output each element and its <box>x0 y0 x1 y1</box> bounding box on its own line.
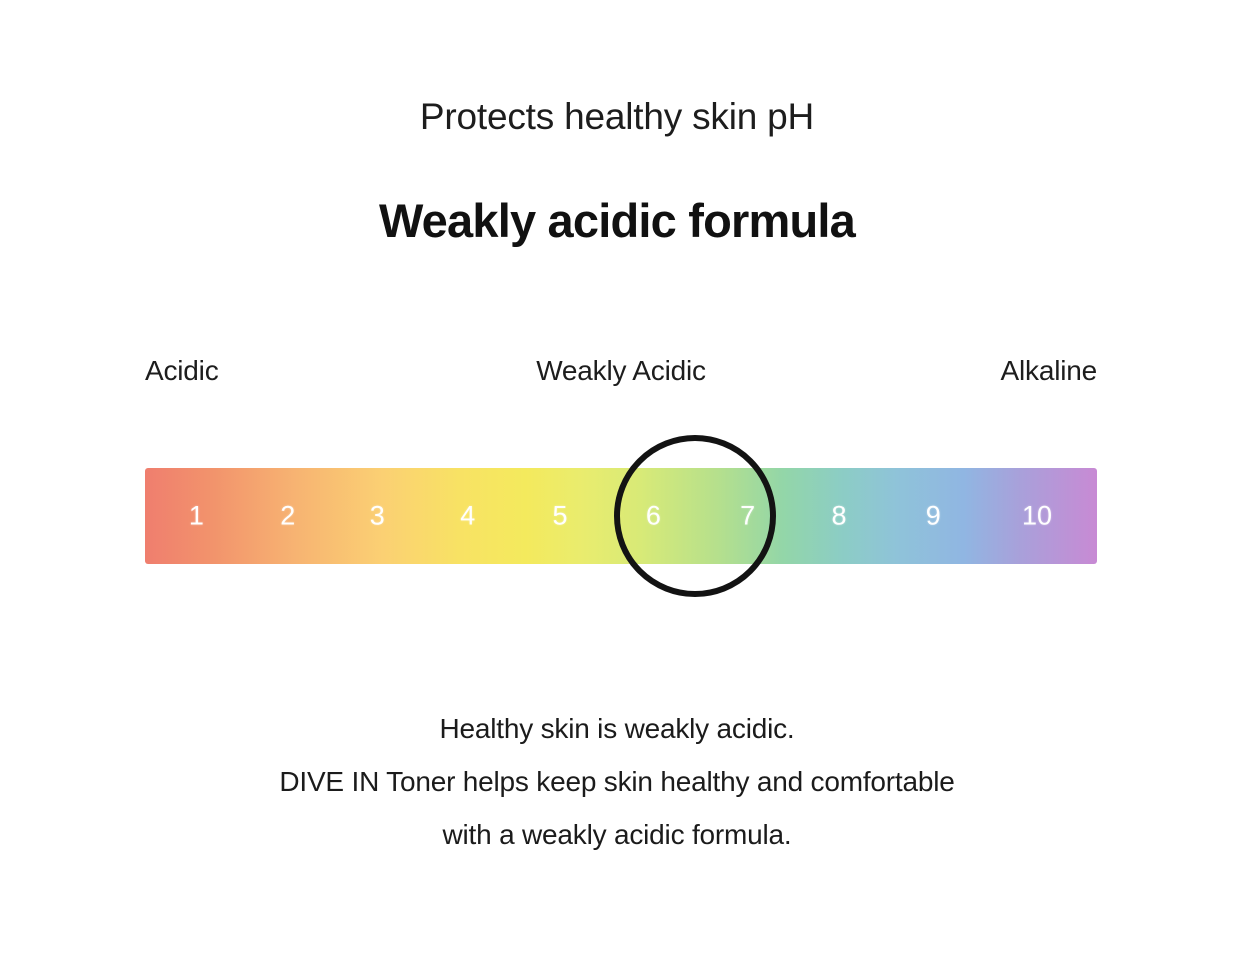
ph-tick-7: 7 <box>740 501 755 532</box>
ph-tick-numbers: 1 2 3 4 5 6 7 8 9 10 <box>145 468 1097 564</box>
body-line-2: DIVE IN Toner helps keep skin healthy an… <box>0 755 1234 808</box>
scale-label-acidic: Acidic <box>145 355 219 387</box>
ph-bar-area: 1 2 3 4 5 6 7 8 9 10 <box>145 468 1097 564</box>
scale-label-weakly-acidic: Weakly Acidic <box>536 355 706 387</box>
ph-scale: Acidic Weakly Acidic Alkaline 1 2 3 4 5 … <box>145 355 1097 564</box>
heading-block: Protects healthy skin pH Weakly acidic f… <box>0 98 1234 244</box>
ph-tick-1: 1 <box>189 501 204 532</box>
ph-tick-9: 9 <box>926 501 941 532</box>
ph-tick-2: 2 <box>280 501 295 532</box>
headline-text: Weakly acidic formula <box>0 135 1234 244</box>
body-line-1: Healthy skin is weakly acidic. <box>0 702 1234 755</box>
scale-label-alkaline: Alkaline <box>1001 355 1097 387</box>
ph-scale-infographic: Protects healthy skin pH Weakly acidic f… <box>0 0 1234 976</box>
ph-scale-labels: Acidic Weakly Acidic Alkaline <box>145 355 1097 399</box>
ph-tick-8: 8 <box>831 501 846 532</box>
ph-tick-3: 3 <box>370 501 385 532</box>
ph-tick-6: 6 <box>646 501 661 532</box>
eyebrow-text: Protects healthy skin pH <box>0 98 1234 135</box>
ph-tick-10: 10 <box>1022 501 1052 532</box>
body-copy: Healthy skin is weakly acidic. DIVE IN T… <box>0 702 1234 861</box>
ph-tick-4: 4 <box>460 501 475 532</box>
ph-tick-5: 5 <box>553 501 568 532</box>
body-line-3: with a weakly acidic formula. <box>0 808 1234 861</box>
